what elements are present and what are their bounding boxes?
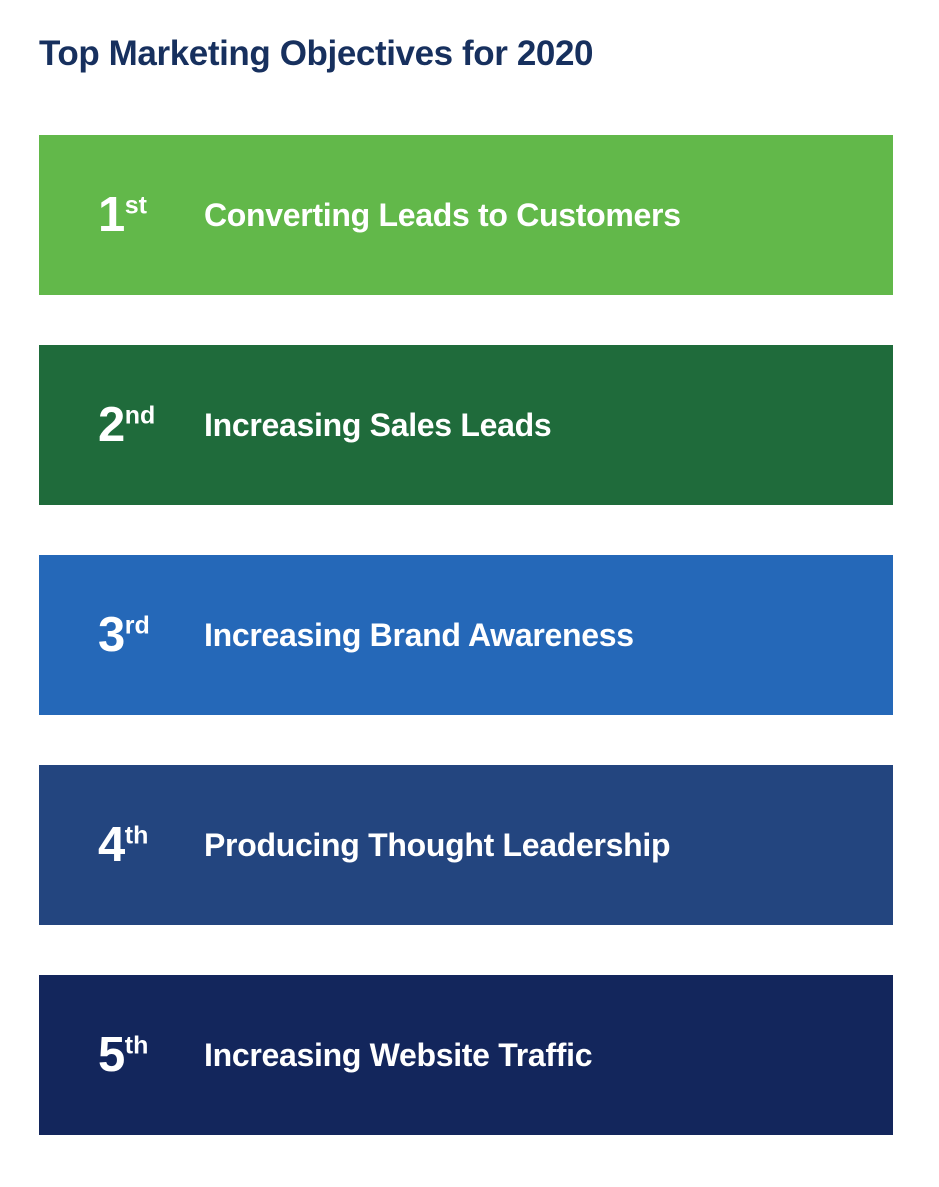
rank-suffix-3: rd [125,611,150,639]
rank-suffix-2: nd [125,401,156,429]
rank-number-5: 5 [98,1028,125,1082]
rank-label-1: Converting Leads to Customers [204,197,681,233]
infographic-page: Top Marketing Objectives for 2020 1st Co… [0,0,939,1187]
rank-ordinal-5: 5th [39,1031,204,1080]
rank-label-3: Increasing Brand Awareness [204,617,634,653]
rank-suffix-5: th [125,1031,149,1059]
ranking-row-5[interactable]: 5th Increasing Website Traffic [39,975,893,1135]
rank-number-3: 3 [98,608,125,662]
rank-suffix-1: st [125,191,147,219]
rank-suffix-4: th [125,821,149,849]
ranking-row-4[interactable]: 4th Producing Thought Leadership [39,765,893,925]
rank-label-2: Increasing Sales Leads [204,407,551,443]
ranking-row-2[interactable]: 2nd Increasing Sales Leads [39,345,893,505]
page-title: Top Marketing Objectives for 2020 [39,33,593,75]
ranking-list: 1st Converting Leads to Customers 2nd In… [39,135,893,1135]
ranking-row-3[interactable]: 3rd Increasing Brand Awareness [39,555,893,715]
rank-label-5: Increasing Website Traffic [204,1037,592,1073]
rank-ordinal-3: 3rd [39,611,204,660]
rank-label-4: Producing Thought Leadership [204,827,670,863]
ranking-row-1[interactable]: 1st Converting Leads to Customers [39,135,893,295]
rank-number-4: 4 [98,818,125,872]
rank-number-2: 2 [98,398,125,452]
rank-ordinal-2: 2nd [39,401,204,450]
rank-ordinal-1: 1st [39,191,204,240]
rank-number-1: 1 [98,188,125,242]
rank-ordinal-4: 4th [39,821,204,870]
